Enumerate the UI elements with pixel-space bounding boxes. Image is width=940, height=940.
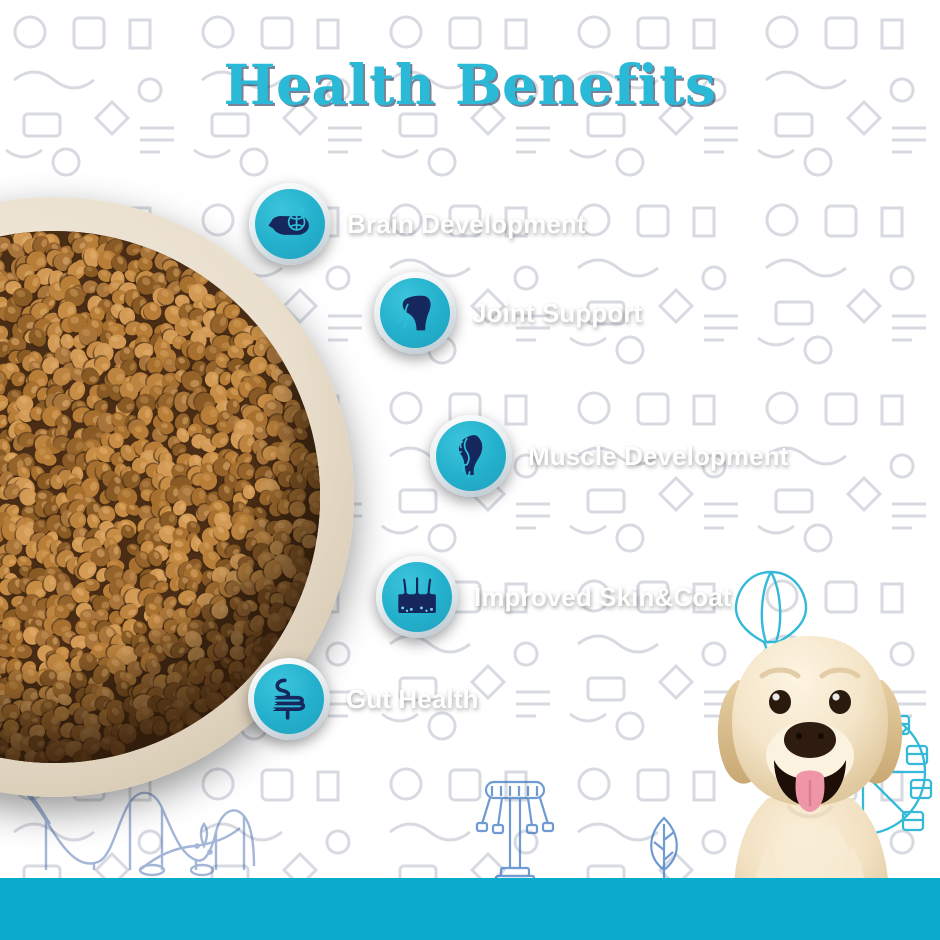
benefit-badge [249, 183, 331, 265]
benefit-label: Improved Skin&Coat [474, 582, 732, 613]
benefit-item-brain-development[interactable]: Brain Development [249, 183, 586, 265]
benefit-item-joint-support[interactable]: Joint Support [374, 272, 642, 354]
bottom-accent-bar [0, 878, 940, 940]
hip-joint-icon [380, 278, 450, 348]
benefit-badge [248, 658, 330, 740]
benefit-label: Gut Health [346, 684, 478, 715]
health-benefits-poster: Health Benefits [0, 0, 940, 940]
page-title: Health Benefits [0, 52, 940, 117]
leg-muscle-icon [436, 421, 506, 491]
benefit-label: Joint Support [472, 298, 642, 329]
dog-brain-icon [255, 189, 325, 259]
benefit-badge [374, 272, 456, 354]
benefit-badge [376, 556, 458, 638]
intestine-icon [254, 664, 324, 734]
hair-follicle-icon [382, 562, 452, 632]
benefit-item-gut-health[interactable]: Gut Health [248, 658, 478, 740]
benefit-badge [430, 415, 512, 497]
benefit-item-muscle-development[interactable]: Muscle Development [430, 415, 788, 497]
benefit-label: Muscle Development [528, 441, 788, 472]
swing-carousel-icon [470, 768, 560, 888]
benefit-item-improved-skin-coat[interactable]: Improved Skin&Coat [376, 556, 732, 638]
benefit-label: Brain Development [347, 209, 586, 240]
